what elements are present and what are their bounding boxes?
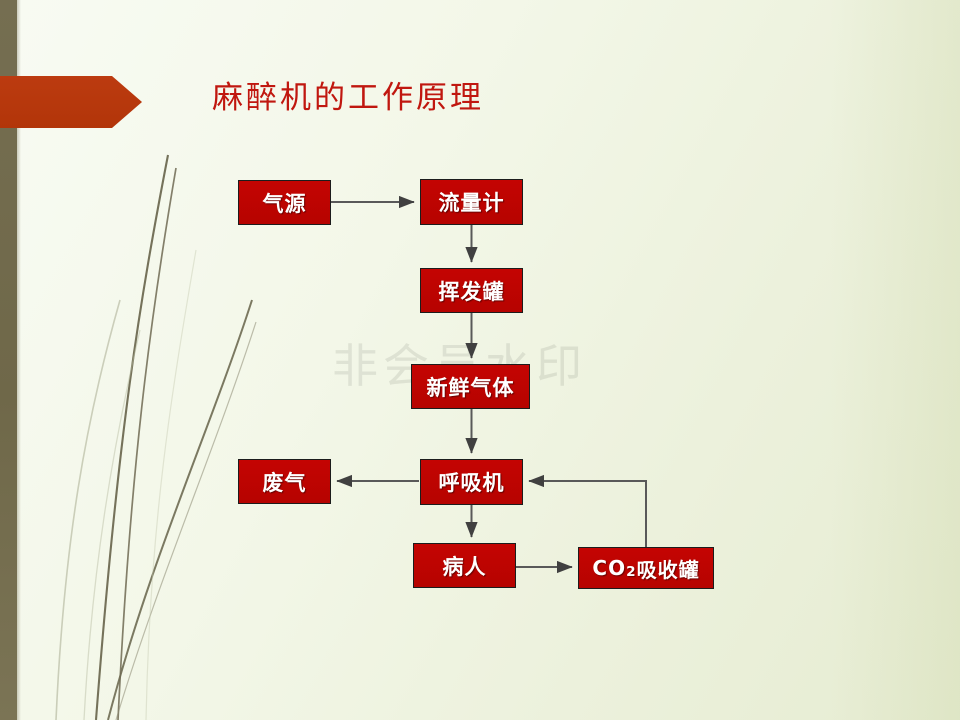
flow-node-flowmeter[interactable]: 流量计 [420,179,523,225]
flow-node-co2-absorber[interactable]: CO2吸收罐 [578,547,714,589]
flow-node-patient[interactable]: 病人 [413,543,516,588]
slide-canvas: 麻醉机的工作原理 非会员水印 气源 流量计 挥发罐 新鲜气体 废气 呼吸机 病人… [0,0,960,720]
flow-node-fresh-gas[interactable]: 新鲜气体 [411,364,530,409]
flowchart: 气源 流量计 挥发罐 新鲜气体 废气 呼吸机 病人 CO2吸收罐 [0,0,960,720]
flow-node-waste-gas[interactable]: 废气 [238,459,331,504]
flow-node-gas-source[interactable]: 气源 [238,180,331,225]
flow-node-ventilator[interactable]: 呼吸机 [420,459,523,505]
flow-node-vaporizer[interactable]: 挥发罐 [420,268,523,313]
